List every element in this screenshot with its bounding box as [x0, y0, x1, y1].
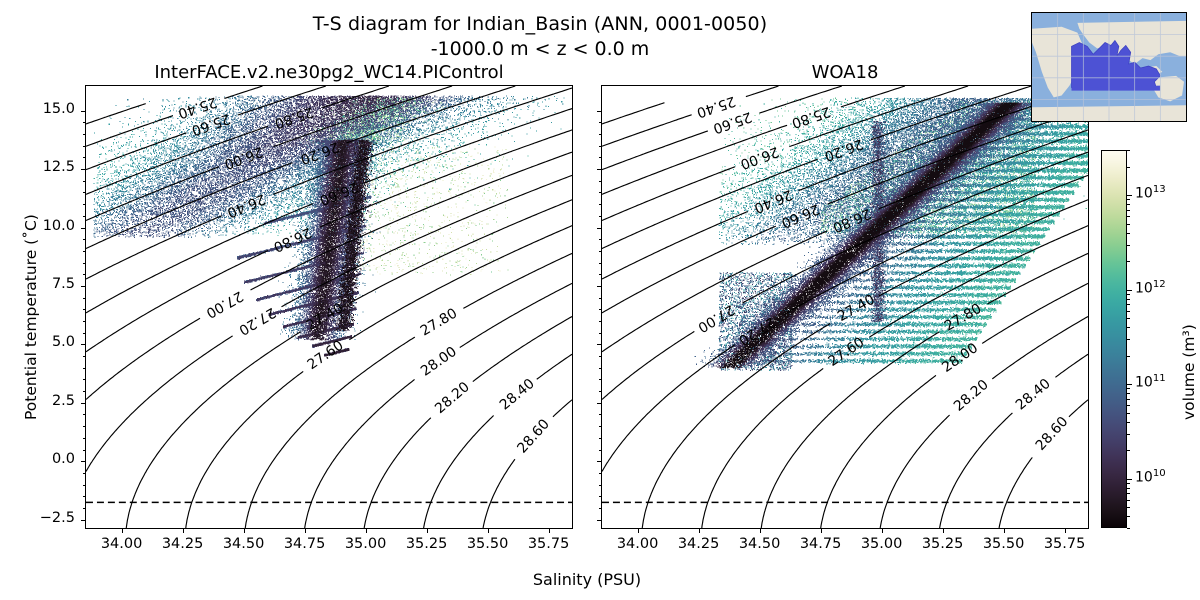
- y-tick-mark: [597, 169, 601, 170]
- y-minor-tick: [599, 134, 602, 135]
- x-tick-mark: [366, 529, 367, 533]
- colorbar-tick-mark: [1127, 290, 1132, 291]
- plot-panel-left[interactable]: 25.4025.6025.8026.0026.2026.4026.6026.80…: [85, 85, 573, 529]
- colorbar-gradient: [1101, 150, 1127, 528]
- colorbar-minor-tick: [1127, 216, 1130, 217]
- colorbar-minor-tick: [1127, 488, 1130, 489]
- contour-line: [602, 331, 694, 399]
- x-tick-mark: [549, 529, 550, 533]
- x-tick-label: 35.00: [331, 536, 401, 552]
- contour-label: 27.20: [236, 304, 278, 338]
- y-tick-mark: [81, 286, 85, 287]
- contour-line: [553, 400, 572, 417]
- contour-label: 26.00: [738, 143, 781, 172]
- y-tick-mark: [597, 344, 601, 345]
- y-minor-tick: [83, 251, 86, 252]
- y-minor-tick: [599, 473, 602, 474]
- y-minor-tick: [599, 379, 602, 380]
- y-minor-tick: [599, 157, 602, 158]
- colorbar-tick-label: 1010: [1135, 468, 1166, 486]
- colorbar-minor-tick: [1127, 204, 1130, 205]
- y-tick-mark: [597, 228, 601, 229]
- y-minor-tick: [83, 473, 86, 474]
- y-minor-tick: [83, 450, 86, 451]
- contour-line: [821, 375, 936, 528]
- colorbar-minor-tick: [1127, 413, 1130, 414]
- contour-line: [86, 133, 186, 170]
- y-tick-mark: [597, 403, 601, 404]
- plot-panel-right[interactable]: 25.4025.6025.8026.0026.2026.4026.6026.80…: [601, 85, 1089, 529]
- y-tick-label: −2.5: [23, 510, 75, 526]
- y-minor-tick: [83, 356, 86, 357]
- y-tick-mark: [81, 403, 85, 404]
- colorbar-minor-tick: [1127, 483, 1130, 484]
- colorbar-minor-tick: [1127, 507, 1130, 508]
- colorbar-minor-tick: [1127, 405, 1130, 406]
- y-minor-tick: [83, 146, 86, 147]
- contour-line: [537, 354, 572, 379]
- y-minor-tick: [599, 368, 602, 369]
- x-tick-label: 34.00: [87, 536, 157, 552]
- x-tick-mark: [488, 529, 489, 533]
- colorbar-minor-tick: [1127, 434, 1130, 435]
- y-minor-tick: [599, 192, 602, 193]
- y-minor-tick: [599, 414, 602, 415]
- world-map-svg: [1032, 13, 1186, 121]
- colorbar-tick-mark: [1127, 195, 1132, 196]
- contour-line: [940, 413, 1013, 528]
- colorbar-label: volume (m³): [1180, 324, 1198, 420]
- colorbar-minor-tick: [1127, 199, 1130, 200]
- inset-region-map: [1031, 12, 1187, 122]
- x-tick-label: 35.75: [1030, 536, 1100, 552]
- x-tick-mark: [943, 529, 944, 533]
- x-tick-label: 35.00: [847, 536, 917, 552]
- colorbar-tick-mark: [1127, 384, 1132, 385]
- x-tick-mark: [1065, 529, 1066, 533]
- y-minor-tick: [599, 496, 602, 497]
- y-minor-tick: [599, 321, 602, 322]
- contour-line: [602, 131, 708, 170]
- x-tick-label: 35.25: [392, 536, 462, 552]
- x-tick-mark: [821, 529, 822, 533]
- colorbar-minor-tick: [1127, 261, 1130, 262]
- y-minor-tick: [83, 391, 86, 392]
- colorbar-minor-tick: [1127, 339, 1130, 340]
- colorbar-tick-label: 1013: [1135, 184, 1166, 202]
- y-minor-tick: [599, 239, 602, 240]
- y-tick-label: 15.0: [23, 101, 75, 117]
- contour-line: [463, 253, 572, 308]
- contour-label: 28.00: [418, 344, 460, 380]
- contour-label: 28.20: [951, 377, 992, 415]
- y-minor-tick: [83, 321, 86, 322]
- x-tick-mark: [760, 529, 761, 533]
- x-tick-mark: [122, 529, 123, 533]
- contour-line: [86, 318, 200, 399]
- y-minor-tick: [599, 251, 602, 252]
- y-minor-tick: [599, 485, 602, 486]
- contour-line: [424, 416, 494, 528]
- y-minor-tick: [83, 263, 86, 264]
- colorbar-minor-tick: [1127, 356, 1130, 357]
- y-minor-tick: [83, 309, 86, 310]
- contour-line: [602, 212, 748, 279]
- y-minor-tick: [599, 263, 602, 264]
- x-tick-label: 35.50: [453, 536, 523, 552]
- contour-line: [992, 317, 1088, 379]
- panel-title-right: WOA18: [601, 62, 1089, 83]
- contour-line: [473, 317, 572, 382]
- y-minor-tick: [599, 438, 602, 439]
- y-minor-tick: [83, 181, 86, 182]
- contour-label: 27.80: [942, 301, 985, 335]
- x-tick-mark: [638, 529, 639, 533]
- colorbar-minor-tick: [1127, 393, 1130, 394]
- contour-label: 28.60: [514, 416, 553, 456]
- y-minor-tick: [83, 485, 86, 486]
- colorbar-minor-tick: [1127, 224, 1130, 225]
- y-tick-mark: [81, 461, 85, 462]
- contour-line: [245, 337, 415, 528]
- x-tick-mark: [882, 529, 883, 533]
- y-minor-tick: [83, 333, 86, 334]
- contour-label: 28.40: [1013, 376, 1054, 414]
- colorbar[interactable]: [1101, 150, 1127, 528]
- colorbar-minor-tick: [1127, 493, 1130, 494]
- y-minor-tick: [599, 450, 602, 451]
- x-tick-mark: [427, 529, 428, 533]
- y-tick-mark: [597, 520, 601, 521]
- colorbar-minor-tick: [1127, 304, 1130, 305]
- x-tick-mark: [305, 529, 306, 533]
- x-tick-mark: [183, 529, 184, 533]
- colorbar-minor-tick: [1127, 299, 1130, 300]
- y-minor-tick: [599, 309, 602, 310]
- colorbar-minor-tick: [1127, 233, 1130, 234]
- x-axis-label: Salinity (PSU): [85, 570, 1089, 589]
- y-minor-tick: [83, 122, 86, 123]
- panel-title-left: InterFACE.v2.ne30pg2_WC14.PIControl: [85, 62, 573, 83]
- x-tick-label: 34.00: [603, 536, 673, 552]
- x-tick-mark: [244, 529, 245, 533]
- y-minor-tick: [83, 414, 86, 415]
- contour-line: [364, 418, 431, 528]
- contour-line: [1069, 400, 1088, 417]
- y-minor-tick: [83, 368, 86, 369]
- contour-line: [602, 103, 664, 124]
- y-minor-tick: [599, 391, 602, 392]
- y-minor-tick: [83, 438, 86, 439]
- colorbar-minor-tick: [1127, 500, 1130, 501]
- figure-suptitle-line2: -1000.0 m < z < 0.0 m: [0, 37, 1080, 62]
- contour-line: [126, 332, 300, 528]
- colorbar-tick-label: 1011: [1135, 373, 1166, 391]
- colorbar-minor-tick: [1127, 528, 1130, 529]
- y-minor-tick: [599, 181, 602, 182]
- contour-label: 28.60: [1033, 414, 1072, 454]
- y-minor-tick: [83, 157, 86, 158]
- x-tick-mark: [1004, 529, 1005, 533]
- y-tick-mark: [81, 169, 85, 170]
- contour-label: 27.00: [203, 288, 246, 321]
- y-minor-tick: [83, 426, 86, 427]
- colorbar-minor-tick: [1127, 388, 1130, 389]
- contour-line: [86, 104, 146, 124]
- x-tick-mark: [699, 529, 700, 533]
- colorbar-minor-tick: [1127, 294, 1130, 295]
- contour-line: [602, 167, 735, 221]
- y-minor-tick: [599, 146, 602, 147]
- contour-line: [186, 371, 303, 528]
- contour-line: [999, 457, 1032, 528]
- colorbar-minor-tick: [1127, 167, 1130, 168]
- y-tick-mark: [597, 461, 601, 462]
- contour-line: [483, 459, 515, 528]
- contour-label: 27.80: [418, 305, 460, 339]
- contour-label: 28.20: [432, 379, 473, 417]
- colorbar-minor-tick: [1127, 245, 1130, 246]
- contour-line: [746, 86, 779, 97]
- x-tick-label: 34.25: [664, 536, 734, 552]
- y-minor-tick: [599, 356, 602, 357]
- y-minor-tick: [599, 333, 602, 334]
- contour-line: [460, 283, 572, 347]
- y-axis-label: Potential temperature (˚C): [22, 214, 40, 420]
- x-tick-label: 34.75: [270, 536, 340, 552]
- ts-diagram-figure: T-S diagram for Indian_Basin (ANN, 0001-…: [0, 0, 1200, 600]
- scatter-bin: [104, 96, 459, 347]
- y-tick-mark: [81, 111, 85, 112]
- contour-label: 28.40: [497, 376, 538, 414]
- colorbar-minor-tick: [1127, 450, 1130, 451]
- contour-line: [702, 368, 823, 528]
- x-tick-label: 35.50: [969, 536, 1039, 552]
- y-minor-tick: [83, 496, 86, 497]
- colorbar-minor-tick: [1127, 150, 1130, 151]
- y-minor-tick: [83, 192, 86, 193]
- y-minor-tick: [599, 508, 602, 509]
- y-tick-mark: [597, 111, 601, 112]
- y-tick-mark: [81, 344, 85, 345]
- y-minor-tick: [83, 204, 86, 205]
- y-minor-tick: [599, 122, 602, 123]
- y-tick-mark: [597, 286, 601, 287]
- colorbar-minor-tick: [1127, 311, 1130, 312]
- y-minor-tick: [83, 508, 86, 509]
- y-minor-tick: [83, 134, 86, 135]
- y-minor-tick: [599, 426, 602, 427]
- y-minor-tick: [599, 216, 602, 217]
- x-tick-label: 35.75: [514, 536, 584, 552]
- y-tick-mark: [81, 520, 85, 521]
- contour-line: [880, 415, 949, 528]
- contour-line: [1055, 354, 1088, 377]
- y-minor-tick: [599, 204, 602, 205]
- colorbar-tick-mark: [1127, 479, 1132, 480]
- y-minor-tick: [83, 239, 86, 240]
- contour-line: [982, 283, 1088, 343]
- x-tick-label: 34.50: [725, 536, 795, 552]
- figure-suptitle-line1: T-S diagram for Indian_Basin (ANN, 0001-…: [0, 12, 1080, 37]
- colorbar-minor-tick: [1127, 327, 1130, 328]
- y-minor-tick: [83, 216, 86, 217]
- contour-label: 27.60: [825, 334, 867, 370]
- colorbar-minor-tick: [1127, 516, 1130, 517]
- y-tick-label: 0.0: [23, 451, 75, 467]
- y-minor-tick: [83, 379, 86, 380]
- colorbar-minor-tick: [1127, 422, 1130, 423]
- plot-canvas-right: 25.4025.6025.8026.0026.2026.4026.6026.80…: [602, 86, 1088, 528]
- y-minor-tick: [599, 298, 602, 299]
- y-minor-tick: [599, 274, 602, 275]
- x-tick-label: 35.25: [908, 536, 978, 552]
- colorbar-minor-tick: [1127, 399, 1130, 400]
- plot-canvas-left: 25.4025.6025.8026.0026.2026.4026.6026.80…: [86, 86, 572, 528]
- y-minor-tick: [83, 274, 86, 275]
- contour-line: [349, 226, 572, 340]
- y-tick-mark: [81, 228, 85, 229]
- x-tick-label: 34.50: [209, 536, 279, 552]
- x-tick-label: 34.25: [148, 536, 218, 552]
- colorbar-tick-label: 1012: [1135, 279, 1166, 297]
- y-tick-label: 12.5: [23, 159, 75, 175]
- contour-line: [365, 109, 572, 183]
- y-minor-tick: [83, 298, 86, 299]
- x-tick-label: 34.75: [786, 536, 856, 552]
- colorbar-minor-tick: [1127, 210, 1130, 211]
- colorbar-minor-tick: [1127, 318, 1130, 319]
